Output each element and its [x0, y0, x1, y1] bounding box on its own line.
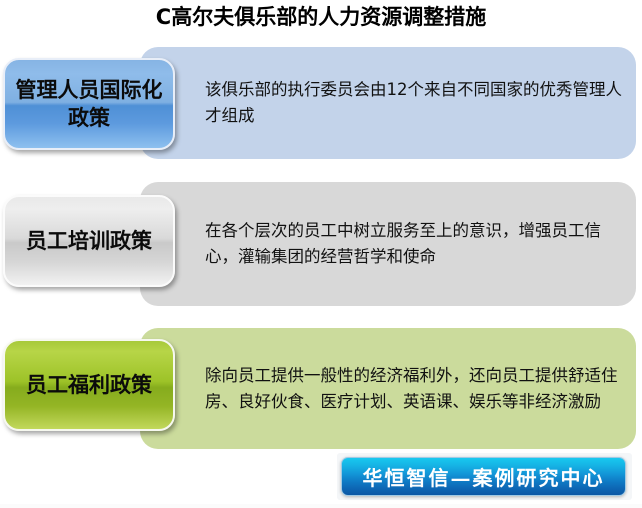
content-row-welfare-policy: 除向员工提供一般性的经济福利外，还向员工提供舒适住房、良好伙食、医疗计划、英语课…	[0, 328, 642, 449]
content-row-management-policy: 该俱乐部的执行委员会由12个来自不同国家的优秀管理人才组成 管理人员国际化政策	[0, 47, 642, 159]
row-description-text: 除向员工提供一般性的经济福利外，还向员工提供舒适住房、良好伙食、医疗计划、英语课…	[205, 363, 622, 415]
row-description-text: 在各个层次的员工中树立服务至上的意识，增强员工信心，灌输集团的经营哲学和使命	[205, 218, 622, 270]
footer-branding-banner: 华恒智信—案例研究中心	[341, 457, 626, 496]
badge-label: 员工福利政策	[20, 371, 158, 399]
badge-label: 员工培训政策	[20, 227, 158, 255]
badge-label: 管理人员国际化政策	[5, 76, 173, 132]
badge-employee-training-policy[interactable]: 员工培训政策	[3, 195, 175, 287]
footer-banner-label: 华恒智信—案例研究中心	[363, 462, 605, 491]
page-title: C高尔夫俱乐部的人力资源调整措施	[0, 2, 642, 32]
content-row-training-policy: 在各个层次的员工中树立服务至上的意识，增强员工信心，灌输集团的经营哲学和使命 员…	[0, 182, 642, 306]
row-description-text: 该俱乐部的执行委员会由12个来自不同国家的优秀管理人才组成	[205, 77, 622, 129]
bottom-edge-strip	[0, 504, 642, 508]
badge-management-internationalization-policy[interactable]: 管理人员国际化政策	[3, 58, 175, 150]
badge-employee-welfare-policy[interactable]: 员工福利政策	[3, 339, 175, 431]
